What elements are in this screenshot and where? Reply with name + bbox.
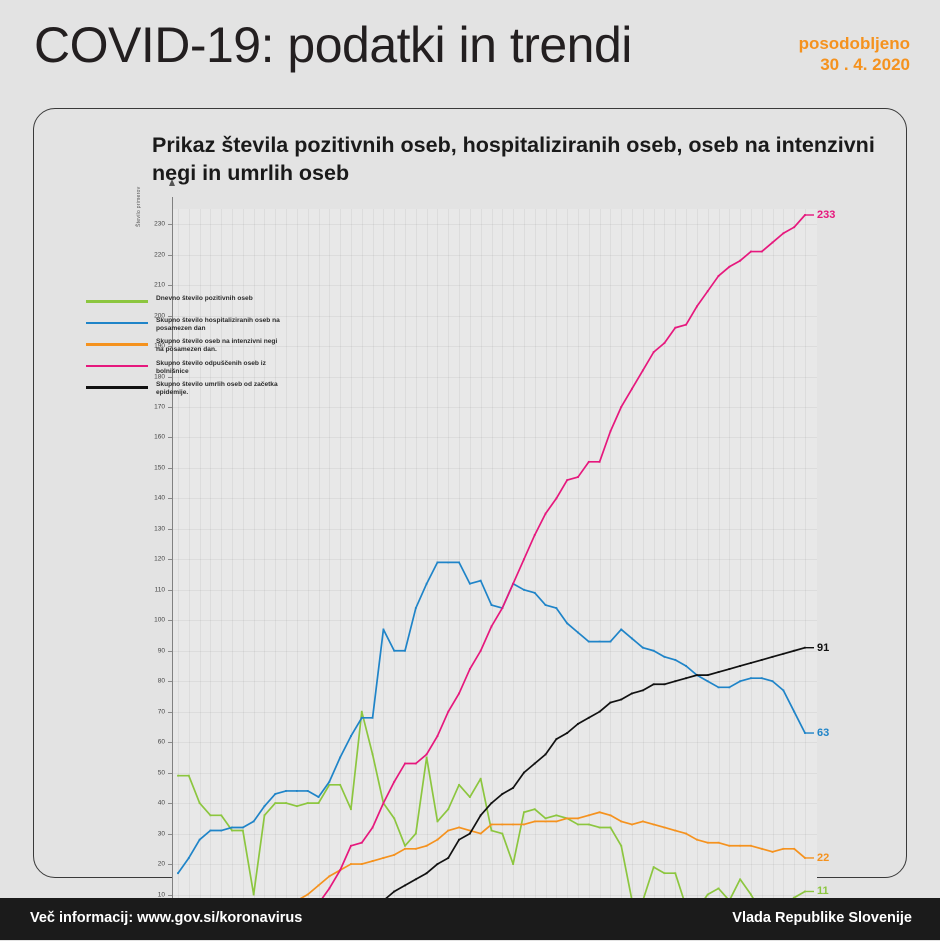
series-point [566,479,568,481]
y-tick-label: 90 [125,647,172,654]
series-point [674,872,676,874]
series-point [512,863,514,865]
y-tick-label: 60 [125,739,172,746]
y-tick-label: 110 [125,586,172,593]
series-point [512,824,514,826]
legend-label-intensive-care: Skupno število oseb na intenzivni negi n… [156,338,286,355]
legend-label-hospitalized: Skupno število hospitaliziranih oseb na … [156,317,286,334]
series-point [610,641,612,643]
y-tick-label: 70 [125,708,172,715]
series-point [177,872,179,874]
series-point [750,662,752,664]
series-point [296,805,298,807]
y-tick-label: 140 [125,495,172,502]
series-point [739,260,741,262]
series-point [350,863,352,865]
series-point [512,787,514,789]
series-point [242,830,244,832]
series-point [718,671,720,673]
series-line [178,712,805,913]
series-point [728,845,730,847]
series-point [653,824,655,826]
y-tick-label: 100 [125,617,172,624]
series-point [437,561,439,563]
legend-item: Skupno število odpuščenih oseb iz bolniš… [86,360,286,377]
end-label-deaths: 91 [817,642,829,654]
series-point [242,827,244,829]
series-point [534,534,536,536]
series-point [393,891,395,893]
series-point [350,808,352,810]
series-point [566,817,568,819]
series-point [404,845,406,847]
series-point [469,668,471,670]
series-point [577,824,579,826]
end-label-discharged: 233 [817,209,835,221]
series-point [415,833,417,835]
series-point [718,686,720,688]
legend-label-daily-positive: Dnevno število pozitivnih oseb [156,295,286,303]
series-point [566,622,568,624]
y-tick-label: 150 [125,464,172,471]
series-point [426,753,428,755]
series-point [620,845,622,847]
series-point [653,683,655,685]
y-tick-label: 120 [125,556,172,563]
series-point [393,781,395,783]
series-point [447,857,449,859]
series-point [447,808,449,810]
series-point [718,275,720,277]
series-point [750,845,752,847]
series-point [339,784,341,786]
series-point [480,778,482,780]
series-point [610,827,612,829]
series-point [577,632,579,634]
series-point [750,677,752,679]
series-point [620,699,622,701]
y-tick-label: 20 [125,861,172,868]
series-point [447,830,449,832]
chart-card: Prikaz števila pozitivnih oseb, hospital… [33,108,907,878]
series-point [664,827,666,829]
series-point [793,711,795,713]
series-point [458,561,460,563]
series-point [437,839,439,841]
series-point [739,665,741,667]
series-point [610,430,612,432]
series-point [188,775,190,777]
series-point [426,872,428,874]
series-point [480,580,482,582]
legend-swatch-deaths [86,386,148,389]
series-point [491,604,493,606]
series-point [415,763,417,765]
series-point [642,370,644,372]
series-point [793,226,795,228]
series-point [534,592,536,594]
series-point [501,607,503,609]
series-point [523,589,525,591]
series-point [674,680,676,682]
series-point [491,625,493,627]
series-point [350,845,352,847]
series-point [664,872,666,874]
series-point [772,680,774,682]
series-point [437,820,439,822]
legend-label-deaths: Skupno število umrlih oseb od začetka ep… [156,381,286,398]
legend-swatch-intensive-care [86,343,148,346]
page-header: COVID-19: podatki in trendi posodobljeno… [0,0,940,100]
series-point [782,689,784,691]
series-point [231,827,233,829]
series-point [480,814,482,816]
series-point [599,711,601,713]
series-point [285,802,287,804]
series-point [469,796,471,798]
page-title: COVID-19: podatki in trendi [34,20,632,70]
series-point [555,814,557,816]
legend-swatch-discharged [86,365,148,368]
series-point [685,665,687,667]
series-point [307,894,309,896]
legend-item: Skupno število hospitaliziranih oseb na … [86,317,286,334]
series-point [382,857,384,859]
series-point [664,656,666,658]
series-point [620,629,622,631]
series-point [599,461,601,463]
series-point [210,830,212,832]
legend-label-discharged: Skupno število odpuščenih oseb iz bolniš… [156,360,286,377]
series-point [610,814,612,816]
series-point [545,513,547,515]
series-point [739,845,741,847]
series-point [447,561,449,563]
series-point [534,763,536,765]
series-point [793,650,795,652]
y-tick-label: 220 [125,251,172,258]
series-point [599,641,601,643]
series-point [707,290,709,292]
series-point [328,781,330,783]
series-point [274,793,276,795]
series-point [491,830,493,832]
series-point [426,757,428,759]
series-point [307,790,309,792]
series-line [178,648,805,925]
series-point [491,824,493,826]
series-point [415,878,417,880]
series-point [512,583,514,585]
series-point [523,772,525,774]
series-point [469,583,471,585]
y-tick-label: 230 [125,221,172,228]
series-point [480,650,482,652]
series-point [664,342,666,344]
series-point [534,820,536,822]
series-point [620,820,622,822]
series-point [264,814,266,816]
series-point [318,796,320,798]
series-point [707,894,709,896]
series-point [577,476,579,478]
series-point [339,869,341,871]
series-point [491,802,493,804]
series-point [328,784,330,786]
series-point [469,833,471,835]
legend-item: Dnevno število pozitivnih oseb [86,295,286,312]
series-point [642,689,644,691]
series-point [555,820,557,822]
series-point [707,842,709,844]
series-point [782,653,784,655]
y-tick-label: 30 [125,830,172,837]
series-point [545,820,547,822]
series-point [718,888,720,890]
series-point [361,711,363,713]
series-point [458,784,460,786]
series-point [361,717,363,719]
series-point [642,820,644,822]
footer-info-link[interactable]: Več informacij: www.gov.si/koronavirus [30,910,302,926]
series-point [588,814,590,816]
series-point [728,266,730,268]
y-axis-arrow-icon [169,179,175,186]
series-point [793,848,795,850]
series-point [447,711,449,713]
series-point [739,680,741,682]
series-point [199,802,201,804]
series-point [523,824,525,826]
series-point [393,817,395,819]
series-point [674,659,676,661]
series-point [588,717,590,719]
series-point [577,723,579,725]
series-point [458,827,460,829]
series-point [393,650,395,652]
chart-legend: Dnevno število pozitivnih oseb Skupno št… [86,295,286,403]
series-point [696,839,698,841]
end-label-hospitalized: 63 [817,727,829,739]
series-point [772,242,774,244]
series-point [782,848,784,850]
update-date: 30 . 4. 2020 [799,54,910,75]
series-point [437,735,439,737]
series-point [685,677,687,679]
series-point [728,668,730,670]
series-point [772,851,774,853]
series-point [523,811,525,813]
series-point [523,558,525,560]
series-point [545,753,547,755]
series-point [642,647,644,649]
series-point [501,824,503,826]
legend-item: Skupno število umrlih oseb od začetka ep… [86,381,286,398]
series-point [307,802,309,804]
series-point [404,848,406,850]
series-point [318,884,320,886]
series-point [674,327,676,329]
series-point [404,650,406,652]
series-point [177,775,179,777]
series-point [631,638,633,640]
series-point [588,461,590,463]
series-point [361,842,363,844]
series-point [285,790,287,792]
legend-swatch-hospitalized [86,322,148,325]
series-point [674,830,676,832]
series-point [555,607,557,609]
series-point [188,857,190,859]
series-point [361,863,363,865]
series-point [545,604,547,606]
series-point [588,641,590,643]
series-point [707,680,709,682]
series-point [426,583,428,585]
series-point [761,677,763,679]
series-point [210,814,212,816]
y-tick-label: 170 [125,403,172,410]
series-point [761,251,763,253]
series-point [653,866,655,868]
page-footer: Več informacij: www.gov.si/koronavirus V… [0,898,940,940]
series-point [761,848,763,850]
series-point [328,888,330,890]
series-point [458,839,460,841]
series-point [404,884,406,886]
series-point [599,811,601,813]
series-point [372,753,374,755]
series-point [664,683,666,685]
series-point [653,650,655,652]
series-point [501,793,503,795]
series-point [620,406,622,408]
series-point [631,388,633,390]
update-stamp: posodobljeno 30 . 4. 2020 [799,33,910,75]
series-point [372,717,374,719]
series-point [393,854,395,856]
series-point [437,863,439,865]
series-point [372,860,374,862]
series-point [382,802,384,804]
series-point [458,693,460,695]
y-tick-label: 10 [125,891,172,898]
series-point [610,702,612,704]
series-point [750,251,752,253]
series-point [382,629,384,631]
series-point [685,833,687,835]
chart-container: Število primerov Čas 0102030405060708090… [34,109,908,879]
series-point [220,814,222,816]
series-point [555,738,557,740]
series-point [318,802,320,804]
series-point [480,833,482,835]
y-tick-label: 130 [125,525,172,532]
series-point [350,735,352,737]
series-point [599,827,601,829]
series-point [761,659,763,661]
series-point [696,674,698,676]
series-point [253,820,255,822]
y-tick-label: 40 [125,800,172,807]
series-point [404,763,406,765]
series-point [296,790,298,792]
footer-attribution: Vlada Republike Slovenije [732,910,912,926]
y-tick-label: 210 [125,282,172,289]
end-label-intensive-care: 22 [817,852,829,864]
series-point [750,894,752,896]
update-label: posodobljeno [799,33,910,54]
series-point [545,817,547,819]
series-point [739,878,741,880]
series-point [253,894,255,896]
legend-item: Skupno število oseb na intenzivni negi n… [86,338,286,355]
series-point [199,839,201,841]
series-point [772,656,774,658]
series-point [231,830,233,832]
series-point [588,824,590,826]
series-point [339,757,341,759]
series-point [415,607,417,609]
y-tick-label: 80 [125,678,172,685]
series-point [696,306,698,308]
series-point [707,674,709,676]
series-point [631,824,633,826]
y-tick-label: 160 [125,434,172,441]
series-point [718,842,720,844]
series-point [534,808,536,810]
series-point [653,351,655,353]
series-point [685,324,687,326]
series-point [555,497,557,499]
series-point [274,802,276,804]
series-point [264,805,266,807]
series-point [566,732,568,734]
series-point [631,693,633,695]
series-point [501,833,503,835]
end-label-daily-positive: 11 [817,885,829,897]
legend-swatch-daily-positive [86,300,148,303]
series-point [728,686,730,688]
series-point [782,232,784,234]
series-point [220,830,222,832]
series-point [426,845,428,847]
series-point [372,827,374,829]
y-tick-label: 50 [125,769,172,776]
series-point [415,848,417,850]
series-point [328,875,330,877]
series-point [577,817,579,819]
